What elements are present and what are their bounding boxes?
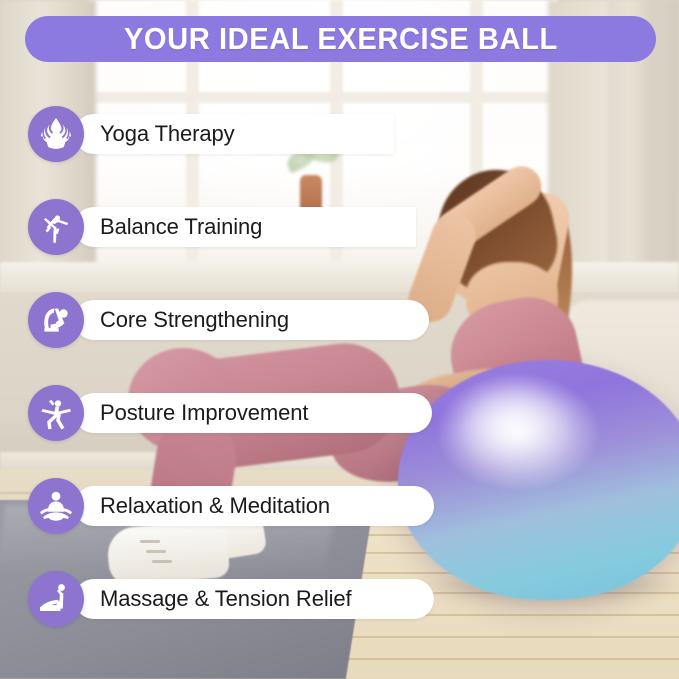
window-sill	[0, 262, 679, 296]
feature-label-pill: Core Strengthening	[74, 300, 429, 340]
meditation-lotus-icon	[28, 478, 84, 534]
feature-row[interactable]: Balance Training	[28, 199, 416, 255]
feature-row[interactable]: Yoga Therapy	[28, 106, 394, 162]
feature-row[interactable]: Relaxation & Meditation	[28, 478, 434, 534]
massage-stretch-icon	[28, 571, 84, 627]
feature-row[interactable]: Core Strengthening	[28, 292, 429, 348]
feature-row[interactable]: Posture Improvement	[28, 385, 432, 441]
balance-dancer-pose-icon	[28, 199, 84, 255]
feature-label: Yoga Therapy	[100, 121, 235, 147]
feature-label-pill: Yoga Therapy	[74, 114, 394, 154]
shoe-lace	[146, 550, 166, 553]
warrior-posture-icon	[28, 385, 84, 441]
shoe-lace	[152, 560, 172, 563]
yoga-lotus-arms-up-icon	[28, 106, 84, 162]
header-banner: YOUR IDEAL EXERCISE BALL	[25, 16, 656, 62]
feature-label-pill: Posture Improvement	[74, 393, 432, 433]
core-crunch-icon	[28, 292, 84, 348]
infographic-canvas: YOUR IDEAL EXERCISE BALL Yoga Therapy	[0, 0, 679, 679]
feature-label-pill: Massage & Tension Relief	[74, 579, 434, 619]
feature-row[interactable]: Massage & Tension Relief	[28, 571, 434, 627]
feature-label: Posture Improvement	[100, 400, 308, 426]
feature-label: Massage & Tension Relief	[100, 586, 352, 612]
feature-label: Relaxation & Meditation	[100, 493, 330, 519]
window-mullion	[95, 92, 555, 103]
shoe-lace	[140, 540, 160, 543]
ball-highlight	[452, 380, 572, 466]
page-title: YOUR IDEAL EXERCISE BALL	[124, 21, 558, 57]
feature-label-pill: Relaxation & Meditation	[74, 486, 434, 526]
feature-label: Core Strengthening	[100, 307, 289, 333]
feature-label: Balance Training	[100, 214, 262, 240]
feature-label-pill: Balance Training	[74, 207, 416, 247]
